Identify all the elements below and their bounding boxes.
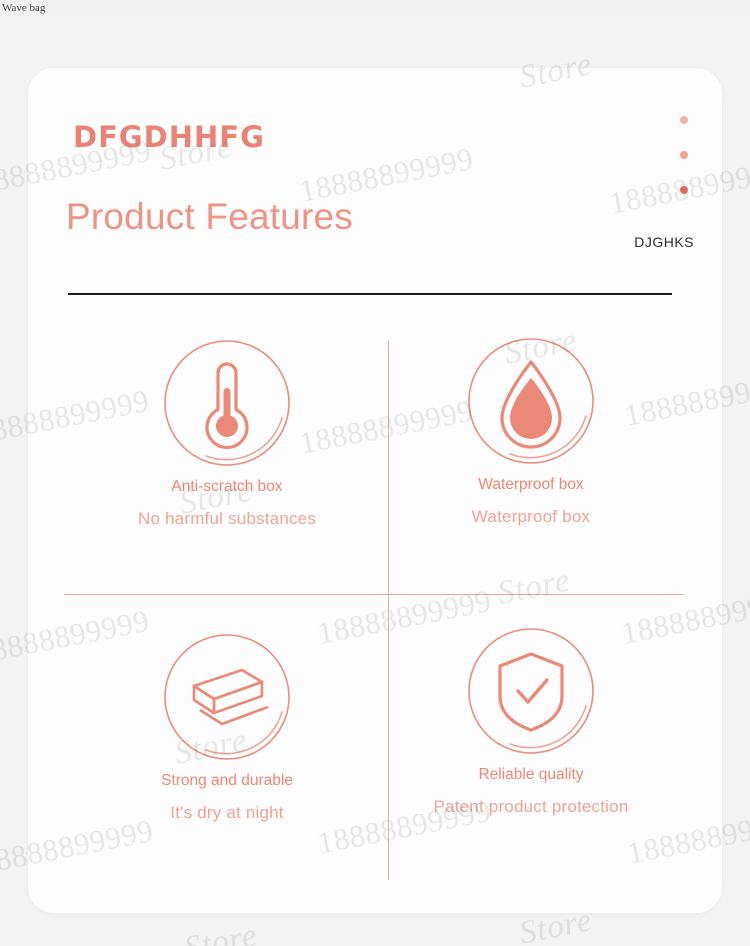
- feature-item: Strong and durable It's dry at night: [72, 630, 382, 823]
- title-divider: [68, 293, 672, 295]
- card-content: DFGDHHFG Product Features DJGHKS: [28, 68, 722, 913]
- feature-title: Reliable quality: [376, 766, 686, 784]
- feature-item: Waterproof box Waterproof box: [376, 334, 686, 527]
- image-alt-label: Wave bag: [0, 0, 47, 16]
- water-drop-icon: [464, 334, 598, 468]
- page-title: Product Features: [66, 196, 353, 238]
- feature-item: Reliable quality Patent product protecti…: [376, 624, 686, 817]
- thermometer-icon: [160, 336, 294, 470]
- feature-subtitle: Patent product protection: [376, 797, 686, 817]
- dot-indicator-3: [680, 186, 688, 194]
- feature-title: Waterproof box: [376, 476, 686, 494]
- dot-indicator-2: [680, 151, 688, 159]
- watermark-store: Store: [181, 917, 260, 946]
- dot-indicator-1: [680, 116, 688, 124]
- grid-horizontal-divider: [64, 594, 684, 595]
- feature-subtitle: It's dry at night: [72, 803, 382, 823]
- feature-title: Strong and durable: [72, 772, 382, 790]
- feature-title: Anti-scratch box: [72, 478, 382, 496]
- feature-grid: Anti-scratch box No harmful substances: [64, 318, 684, 878]
- product-image-stage: DFGDHHFG Product Features DJGHKS: [0, 16, 750, 946]
- brand-title: DFGDHHFG: [73, 120, 265, 154]
- feature-card: DFGDHHFG Product Features DJGHKS: [28, 68, 722, 913]
- feature-item: Anti-scratch box No harmful substances: [72, 336, 382, 529]
- shield-check-icon: [464, 624, 598, 758]
- feature-subtitle: Waterproof box: [376, 507, 686, 527]
- page-root: Wave bag DFGDHHFG Product Features DJGHK…: [0, 0, 750, 946]
- product-code: DJGHKS: [634, 234, 694, 250]
- box-tray-icon: [160, 630, 294, 764]
- dot-indicator-group: [680, 116, 690, 221]
- feature-subtitle: No harmful substances: [72, 509, 382, 529]
